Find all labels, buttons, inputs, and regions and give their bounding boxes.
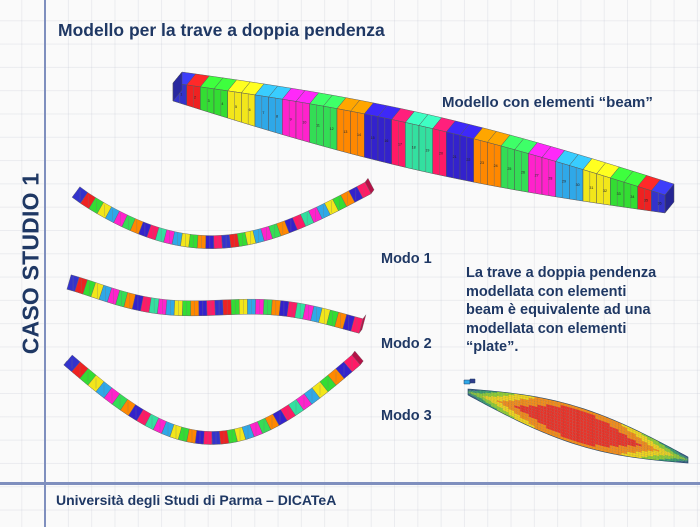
- page-title: Modello per la trave a doppia pendenza: [58, 20, 385, 41]
- svg-text:14: 14: [357, 133, 361, 137]
- svg-text:21: 21: [453, 155, 457, 159]
- svg-text:3: 3: [208, 99, 210, 103]
- svg-text:15: 15: [371, 136, 375, 140]
- svg-text:28: 28: [548, 177, 552, 181]
- mode-shape-2-figure: [63, 278, 368, 360]
- svg-text:19: 19: [425, 149, 429, 153]
- svg-text:2: 2: [194, 96, 196, 100]
- horizontal-divider: [0, 482, 700, 485]
- svg-text:4: 4: [221, 102, 223, 106]
- svg-text:27: 27: [535, 173, 539, 177]
- svg-text:8: 8: [276, 114, 278, 118]
- svg-text:5: 5: [235, 105, 237, 109]
- svg-text:10: 10: [302, 121, 306, 125]
- note-line-4: modellata con elementi: [466, 320, 681, 339]
- svg-text:34: 34: [630, 195, 634, 199]
- svg-text:20: 20: [439, 152, 443, 156]
- svg-text:29: 29: [562, 180, 566, 184]
- svg-text:33: 33: [617, 192, 621, 196]
- mode-3-label: Modo 3: [381, 408, 432, 424]
- slide-canvas: CASO STUDIO 1 Modello per la trave a dop…: [0, 0, 700, 527]
- svg-text:18: 18: [412, 145, 416, 149]
- svg-text:30: 30: [576, 183, 580, 187]
- svg-text:26: 26: [521, 170, 525, 174]
- svg-text:9: 9: [290, 117, 292, 121]
- footer-text: Università degli Studi di Parma – DICATe…: [56, 492, 336, 508]
- svg-text:13: 13: [343, 130, 347, 134]
- plate-element-model-figure: [460, 378, 696, 478]
- svg-text:6: 6: [249, 108, 251, 112]
- svg-text:7: 7: [262, 111, 264, 115]
- svg-text:23: 23: [480, 161, 484, 165]
- side-title: CASO STUDIO 1: [18, 149, 45, 379]
- note-line-5: “plate”.: [466, 338, 681, 357]
- mode-shape-1-figure: [72, 182, 372, 264]
- svg-text:24: 24: [494, 164, 498, 168]
- svg-text:17: 17: [398, 142, 402, 146]
- note-text: La trave a doppia pendenza modellata con…: [466, 264, 681, 357]
- beam-model-label: Modello con elementi “beam”: [442, 94, 653, 111]
- svg-text:12: 12: [330, 127, 334, 131]
- svg-text:22: 22: [466, 158, 470, 162]
- note-line-1: La trave a doppia pendenza: [466, 264, 681, 283]
- note-line-3: beam è equivalente ad una: [466, 301, 681, 320]
- note-line-2: modellata con elementi: [466, 283, 681, 302]
- svg-text:25: 25: [507, 167, 511, 171]
- svg-text:31: 31: [589, 186, 593, 190]
- mode-2-label: Modo 2: [381, 336, 432, 352]
- mode-shape-3-figure: [62, 352, 362, 460]
- svg-text:36: 36: [658, 201, 662, 205]
- svg-text:32: 32: [603, 189, 607, 193]
- svg-text:16: 16: [384, 139, 388, 143]
- mode-1-label: Modo 1: [381, 251, 432, 267]
- svg-text:1: 1: [180, 93, 182, 97]
- svg-text:35: 35: [644, 198, 648, 202]
- svg-text:11: 11: [316, 124, 320, 128]
